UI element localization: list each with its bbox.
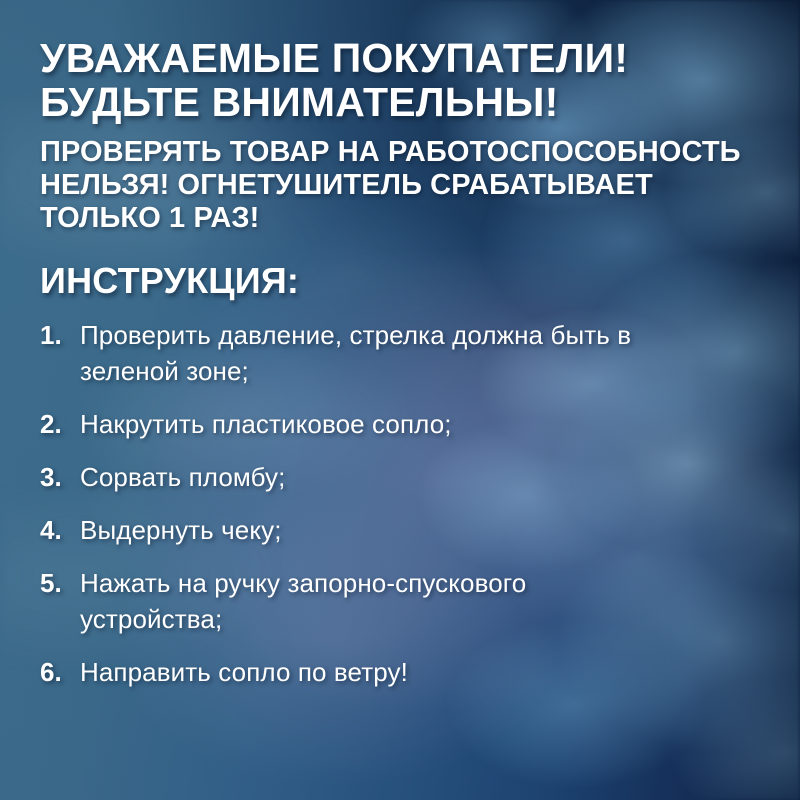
poster: УВАЖАЕМЫЕ ПОКУПАТЕЛИ! БУДЬТЕ ВНИМАТЕЛЬНЫ… <box>0 0 800 800</box>
step-text: Выдернуть чеку; <box>80 512 282 548</box>
instruction-step: 3. Сорвать пломбу; <box>40 459 760 495</box>
instruction-steps-list: 1. Проверить давление, стрелка должна бы… <box>40 317 760 690</box>
step-number: 4. <box>40 512 80 548</box>
poster-title: УВАЖАЕМЫЕ ПОКУПАТЕЛИ! БУДЬТЕ ВНИМАТЕЛЬНЫ… <box>40 0 760 124</box>
step-text: Проверить давление, стрелка должна быть … <box>80 317 650 389</box>
step-text: Сорвать пломбу; <box>80 459 285 495</box>
step-number: 3. <box>40 459 80 495</box>
poster-content: УВАЖАЕМЫЕ ПОКУПАТЕЛИ! БУДЬТЕ ВНИМАТЕЛЬНЫ… <box>0 0 800 690</box>
step-text: Направить сопло по ветру! <box>80 654 408 690</box>
step-text: Накрутить пластиковое сопло; <box>80 406 452 442</box>
instruction-step: 1. Проверить давление, стрелка должна бы… <box>40 317 760 389</box>
step-number: 6. <box>40 654 80 690</box>
warning-activation-count: 1 <box>169 202 185 234</box>
instruction-step: 2. Накрутить пластиковое сопло; <box>40 406 760 442</box>
step-number: 5. <box>40 565 80 601</box>
instruction-step: 5. Нажать на ручку запорно-спускового ус… <box>40 565 760 637</box>
warning-text-part2: РАЗ! <box>185 202 259 234</box>
section-heading-instruction: ИНСТРУКЦИЯ: <box>40 261 760 301</box>
step-number: 2. <box>40 406 80 442</box>
instruction-step: 4. Выдернуть чеку; <box>40 512 760 548</box>
step-text: Нажать на ручку запорно-спускового устро… <box>80 565 650 637</box>
warning-text-part1: ПРОВЕРЯТЬ ТОВАР НА РАБОТОСПОСОБНОСТЬ НЕЛ… <box>40 136 741 234</box>
step-number: 1. <box>40 317 80 353</box>
warning-text: ПРОВЕРЯТЬ ТОВАР НА РАБОТОСПОСОБНОСТЬ НЕЛ… <box>40 136 760 235</box>
instruction-step: 6. Направить сопло по ветру! <box>40 654 760 690</box>
